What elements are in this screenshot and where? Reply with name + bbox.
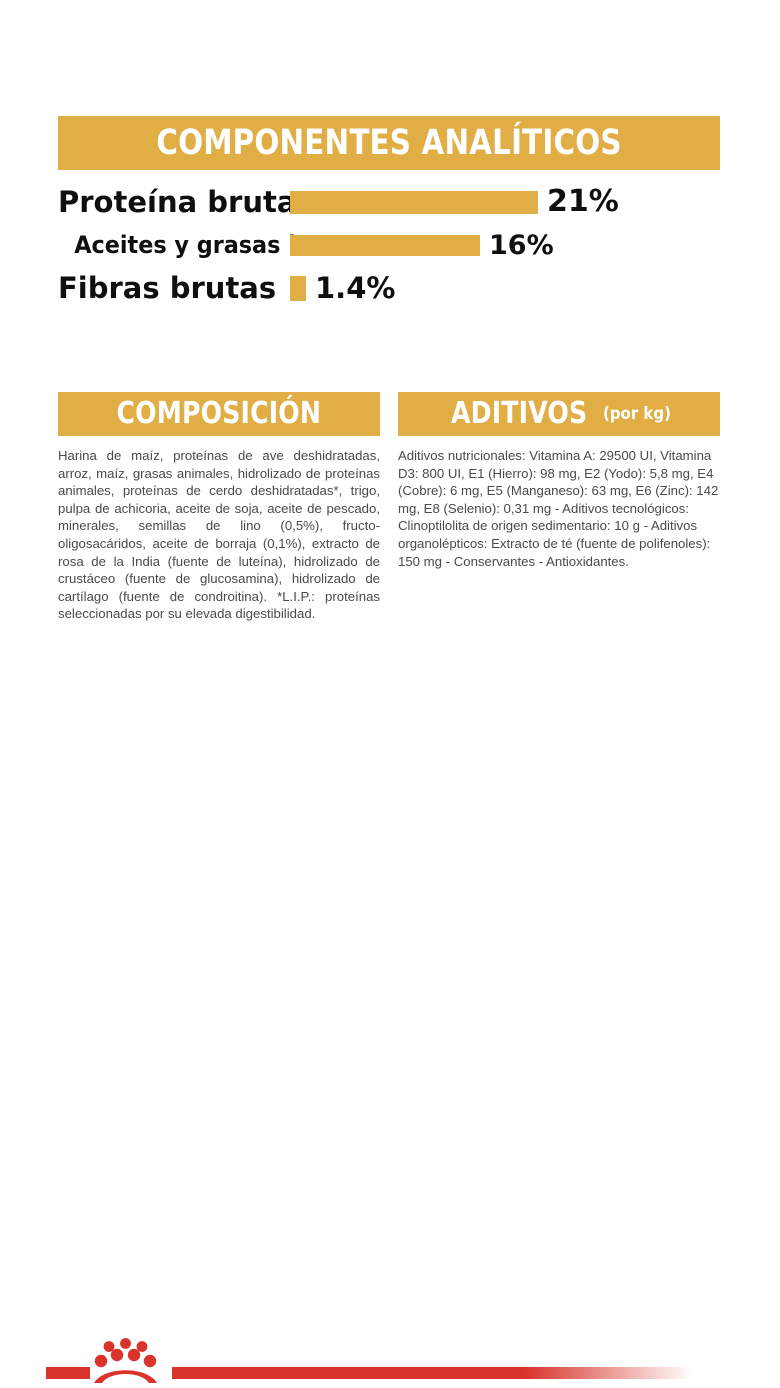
additives-text: Aditivos nutricionales: Vitamina A: 2950… — [398, 447, 720, 570]
chart-bar-row: Proteína bruta 21% — [58, 182, 720, 222]
bar-label-protein: Proteína bruta — [58, 188, 290, 217]
analytical-components-banner: COMPONENTES ANALÍTICOS — [58, 116, 720, 170]
chart-bar-row: Fibras brutas 1.4% — [58, 268, 720, 308]
bar-value-fibre: 1.4% — [306, 274, 395, 303]
bar-value-protein: 21% — [538, 187, 619, 217]
analytical-components-chart: Proteína bruta 21% Aceites y grasas brut… — [58, 182, 720, 312]
bar-label-fibre: Fibras brutas — [58, 274, 290, 303]
bar-track-protein: 21% — [290, 182, 619, 222]
additives-title: ADITIVOS — [451, 399, 587, 429]
bar-fill-fats — [290, 235, 480, 256]
royal-canin-paw-crown-icon — [92, 1338, 164, 1388]
additives-subtitle: (por kg) — [603, 404, 671, 424]
composition-title: COMPOSICIÓN — [117, 399, 322, 429]
bar-fill-protein — [290, 191, 538, 214]
composition-text: Harina de maíz, proteínas de ave deshidr… — [58, 447, 380, 623]
composition-banner: COMPOSICIÓN — [58, 392, 380, 436]
bar-track-fats: 16% — [290, 227, 554, 263]
footer-brand-mark — [0, 660, 780, 780]
bar-label-fats: Aceites y grasas brutos — [74, 233, 290, 257]
bar-value-fats: 16% — [480, 232, 554, 259]
additives-banner: ADITIVOS (por kg) — [398, 392, 720, 436]
product-info-sheet: COMPONENTES ANALÍTICOS Proteína bruta 21… — [0, 0, 780, 780]
bar-track-fibre: 1.4% — [290, 268, 395, 308]
analytical-components-title: COMPONENTES ANALÍTICOS — [156, 126, 621, 161]
bar-fill-fibre — [290, 276, 306, 301]
chart-bar-row: Aceites y grasas brutos 16% — [58, 227, 720, 263]
footer-rule-right — [172, 1367, 692, 1379]
footer-rule-left — [46, 1367, 90, 1379]
